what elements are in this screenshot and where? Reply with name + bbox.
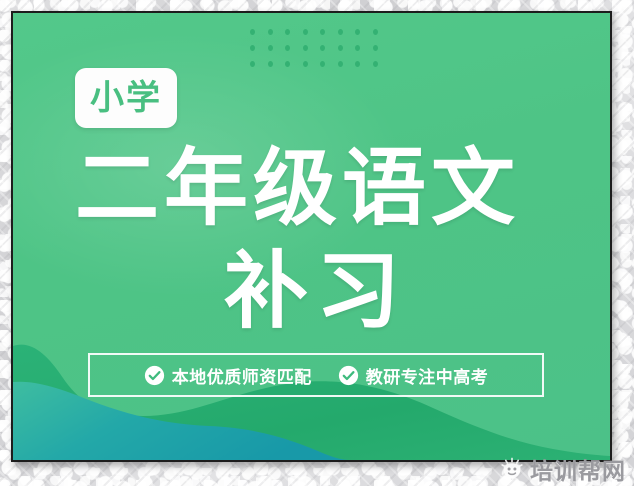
grid-dot [285, 29, 290, 35]
grid-dot [250, 29, 255, 35]
grade-level-badge-label: 小学 [90, 81, 162, 115]
check-circle-icon [338, 365, 359, 386]
grid-dot [268, 61, 273, 67]
grid-dot [285, 61, 290, 67]
poster-title-line-2: 补习 [224, 249, 408, 333]
grid-dot [338, 29, 343, 35]
grid-dot [373, 61, 378, 67]
check-circle-icon [144, 365, 165, 386]
grid-dot [338, 61, 343, 67]
grid-dot [355, 61, 360, 67]
feature-item-1-label: 本地优质师资匹配 [172, 363, 312, 388]
grid-dot [250, 45, 255, 51]
grid-dot [355, 29, 360, 35]
grid-dot [320, 45, 325, 51]
feature-item-2: 教研专注中高考 [338, 363, 489, 388]
grid-dot [285, 45, 290, 51]
grid-dot [373, 45, 378, 51]
grade-level-badge: 小学 [75, 68, 177, 128]
grid-dot [250, 61, 255, 67]
feature-item-1: 本地优质师资匹配 [144, 363, 312, 388]
poster-card: 小学 二年级语文 补习 本地优质师资匹配 教研专注中高考 [11, 11, 612, 462]
smiley-sun-icon [500, 457, 524, 481]
grid-dot [268, 45, 273, 51]
poster-title-line-1: 二年级语文 [75, 146, 520, 230]
grid-dot [373, 29, 378, 35]
grid-dot [320, 29, 325, 35]
grid-dot [303, 61, 308, 67]
grid-dot [355, 45, 360, 51]
grid-dot [268, 29, 273, 35]
site-watermark-label: 培训帮网 [530, 452, 626, 486]
site-watermark: 培训帮网 [500, 455, 626, 483]
dot-grid-row [250, 29, 378, 35]
grid-dot [320, 61, 325, 67]
feature-highlight-bar: 本地优质师资匹配 教研专注中高考 [88, 353, 544, 397]
dot-grid-decoration [250, 29, 378, 71]
dot-grid-row [250, 45, 378, 51]
grid-dot [303, 29, 308, 35]
poster-stage: 小学 二年级语文 补习 本地优质师资匹配 教研专注中高考 [0, 0, 634, 486]
grid-dot [338, 45, 343, 51]
feature-item-2-label: 教研专注中高考 [366, 363, 489, 388]
dot-grid-row [250, 61, 378, 67]
grid-dot [303, 45, 308, 51]
